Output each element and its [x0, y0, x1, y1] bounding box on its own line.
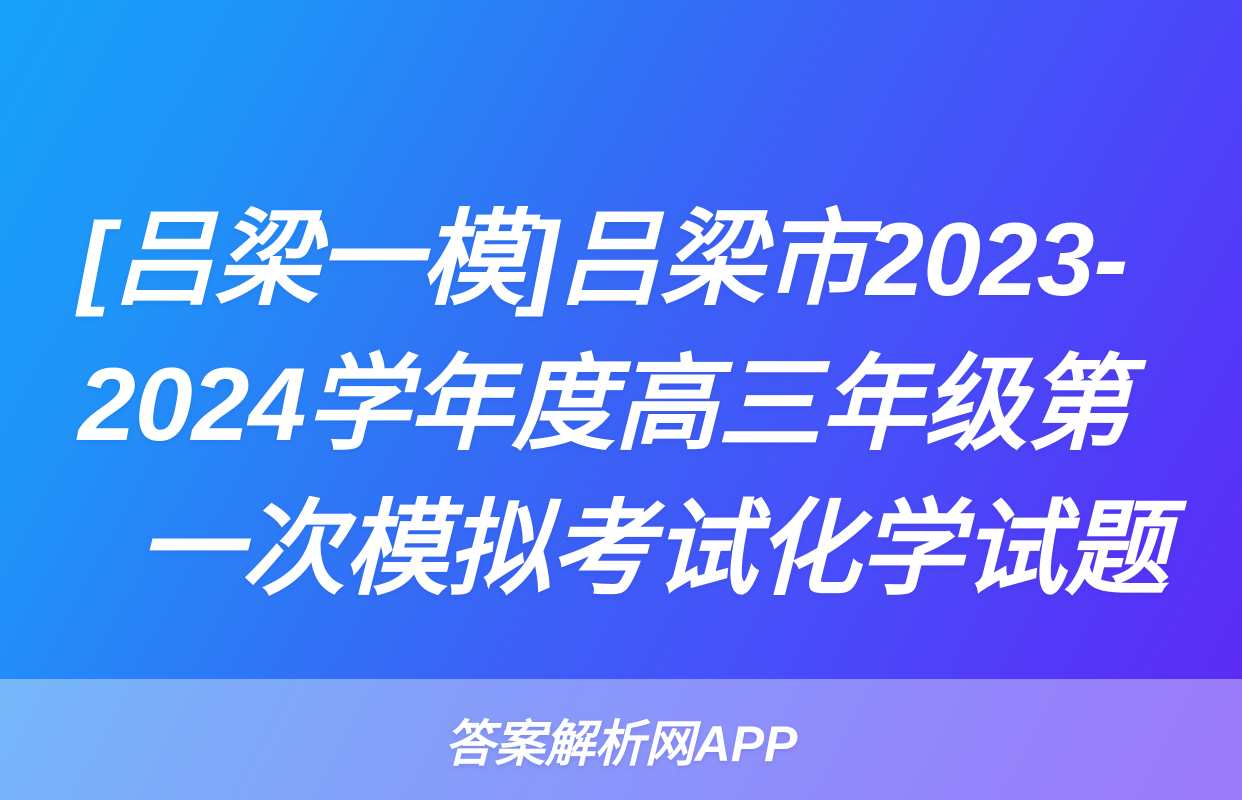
page-title: [吕梁一模]吕梁市2023- 2024学年度高三年级第 一次模拟考试化学试题 [78, 188, 1168, 623]
app-watermark-label: 答案解析网APP [445, 704, 798, 776]
page-title-line-1: [吕梁一模]吕梁市2023- [78, 188, 1168, 333]
page-title-line-3: 一次模拟考试化学试题 [78, 478, 1168, 623]
page-title-line-2: 2024学年度高三年级第 [78, 333, 1168, 478]
footer-watermark-band: 答案解析网APP [0, 679, 1242, 800]
exam-title-card: [吕梁一模]吕梁市2023- 2024学年度高三年级第 一次模拟考试化学试题 答… [0, 0, 1242, 800]
